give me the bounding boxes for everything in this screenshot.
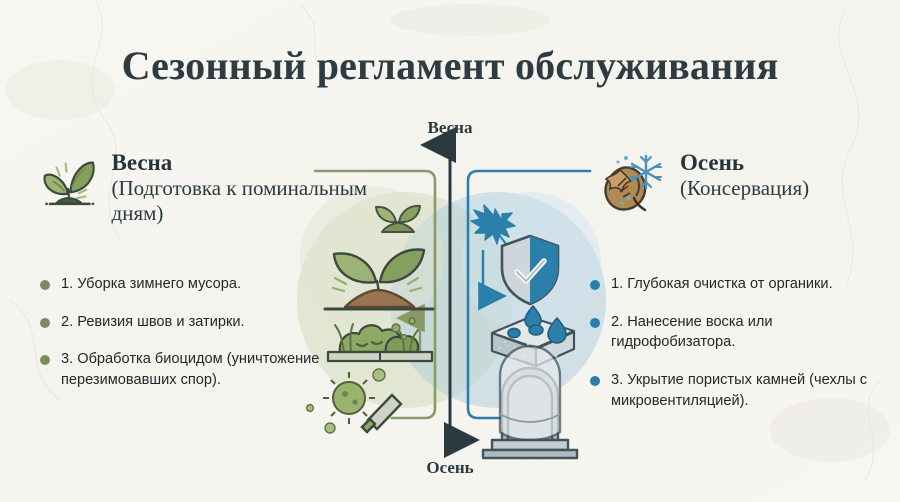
bullet-dot-icon [590, 280, 600, 290]
blue-maple-leaf-icon [471, 205, 515, 244]
list-item: 2. Ревизия швов и затирки. [40, 312, 340, 333]
list-item-label: 3. Обработка биоцидом (уничтожение перез… [61, 349, 340, 390]
bullet-dot-icon [40, 355, 50, 365]
list-item-label: 3. Укрытие пористых камней (чехлы с микр… [611, 370, 890, 411]
list-item-label: 2. Нанесение воска или гидрофобизатора. [611, 312, 890, 353]
bullet-dot-icon [590, 318, 600, 328]
small-sprout-icon [376, 206, 420, 232]
leaf-snowflake-icon [596, 148, 668, 220]
sprout-in-soil-icon [325, 250, 433, 309]
page-title: Сезонный регламент обслуживания [0, 42, 900, 89]
autumn-bullet-list: 1. Глубокая очистка от органики. 2. Нане… [590, 274, 890, 429]
list-item: 1. Уборка зимнего мусора. [40, 274, 340, 295]
list-item-label: 1. Глубокая очистка от органики. [611, 274, 833, 295]
autumn-subheading: (Консервация) [680, 176, 809, 202]
autumn-heading: Осень [680, 150, 809, 176]
covered-headstone-icon [483, 346, 577, 458]
spring-column-header: Весна (Подготовка к поминальным дням) [40, 148, 370, 227]
moss-on-slab-icon [328, 318, 432, 361]
bullet-dot-icon [40, 280, 50, 290]
axis-label-top: Весна [350, 118, 550, 138]
bullet-dot-icon [40, 318, 50, 328]
list-item: 2. Нанесение воска или гидрофобизатора. [590, 312, 890, 353]
list-item-label: 1. Уборка зимнего мусора. [61, 274, 241, 295]
shield-check-icon [502, 236, 558, 304]
spring-bullet-list: 1. Уборка зимнего мусора. 2. Ревизия шво… [40, 274, 340, 408]
bullet-dot-icon [590, 376, 600, 386]
list-item: 1. Глубокая очистка от органики. [590, 274, 890, 295]
spring-subheading: (Подготовка к поминальным дням) [112, 176, 370, 227]
list-item: 3. Обработка биоцидом (уничтожение перез… [40, 349, 340, 390]
spring-heading: Весна [112, 150, 370, 176]
autumn-column-header: Осень (Консервация) [596, 148, 896, 220]
axis-label-bottom: Осень [350, 458, 550, 478]
maple-leaf-icon [606, 167, 646, 210]
list-item: 3. Укрытие пористых камней (чехлы с микр… [590, 370, 890, 411]
infographic-canvas: Сезонный регламент обслуживания Весна Ос… [0, 0, 900, 502]
list-item-label: 2. Ревизия швов и затирки. [61, 312, 245, 333]
sprout-icon [40, 148, 100, 220]
